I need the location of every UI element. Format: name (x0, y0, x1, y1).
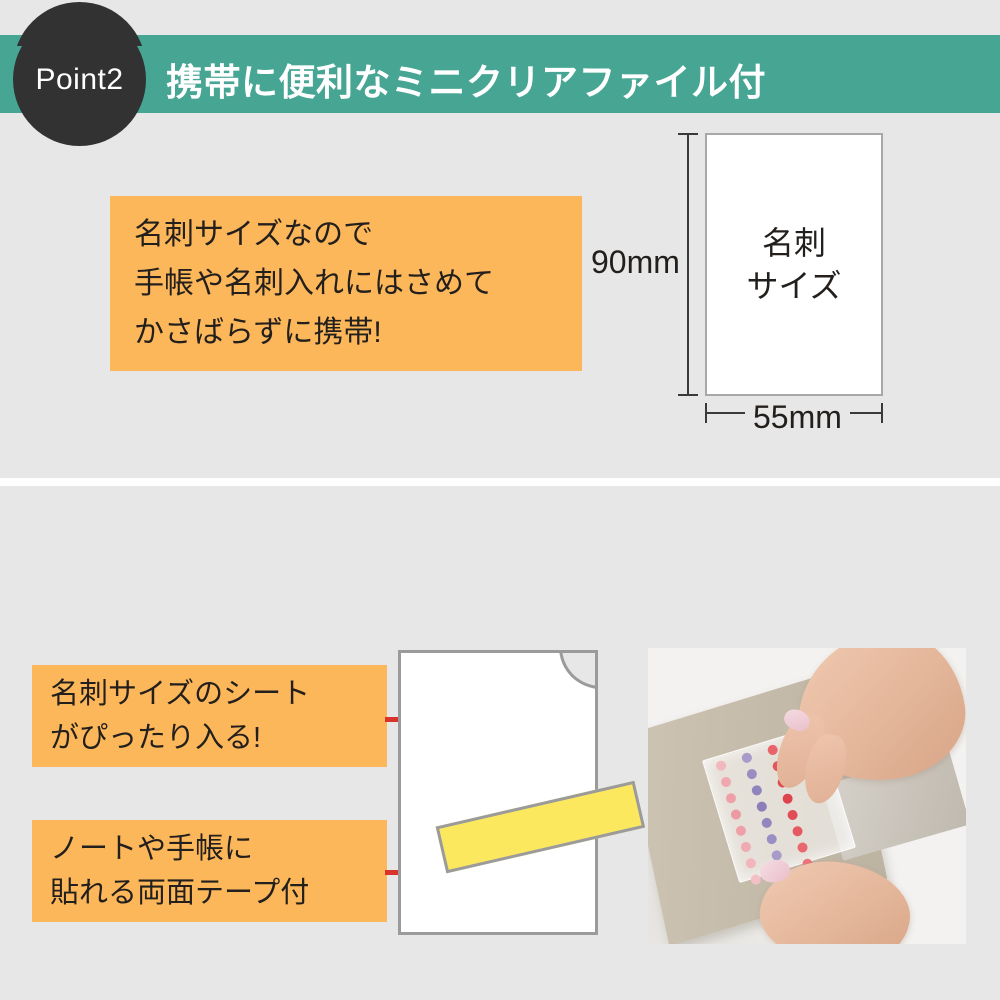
callout-point2-a-line-2: がぴったり入る! (50, 716, 387, 760)
point-badge-2: Point2 (13, 13, 146, 146)
width-tick-left (705, 403, 707, 423)
clear-file-cut-corner (559, 650, 598, 689)
callout-point2-b-line-2: 貼れる両面テープ付 (50, 871, 387, 915)
height-dimension-label: 90mm (591, 244, 680, 281)
callout-point2-b-line-1: ノートや手帳に (50, 827, 387, 871)
infographic-page: 携帯に便利な名刺サイズ Point1 名刺サイズなので 手帳や名刺入れにはさめて… (0, 0, 1000, 1000)
height-dimension-line (687, 133, 689, 396)
callout-point2-b: ノートや手帳に 貼れる両面テープ付 (32, 820, 387, 922)
width-dimension-label: 55mm (745, 399, 850, 436)
callout-point1-line-1: 名刺サイズなので (134, 210, 582, 259)
callout-point1-line-3: かさばらずに携帯! (134, 308, 582, 357)
height-tick-bottom (678, 394, 698, 396)
height-tick-top (678, 133, 698, 135)
business-card-diagram: 名刺 サイズ (705, 133, 883, 396)
business-card-label: 名刺 サイズ (707, 222, 881, 308)
product-photo (648, 648, 966, 944)
banner-title-point2: 携帯に便利なミニクリアファイル付 (166, 51, 766, 105)
clear-file-diagram (398, 650, 598, 935)
callout-point2-a: 名刺サイズのシート がぴったり入る! (32, 665, 387, 767)
width-tick-right (881, 403, 883, 423)
banner-point2: 携帯に便利なミニクリアファイル付 (0, 46, 1000, 113)
point-badge-2-label: Point2 (35, 63, 123, 97)
card-label-line-1: 名刺 (707, 222, 881, 265)
callout-point1-line-2: 手帳や名刺入れにはさめて (134, 259, 582, 308)
callout-point1: 名刺サイズなので 手帳や名刺入れにはさめて かさばらずに携帯! (110, 196, 582, 371)
callout-point2-a-line-1: 名刺サイズのシート (50, 672, 387, 716)
card-label-line-2: サイズ (707, 265, 881, 308)
